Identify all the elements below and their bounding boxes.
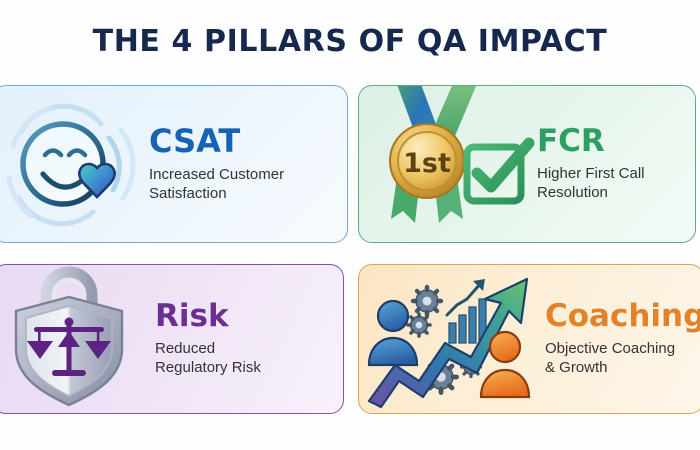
coaching-subtitle: Objective Coaching & Growth — [545, 339, 700, 377]
medal-label: 1st — [403, 148, 451, 179]
pillar-card-risk[interactable]: Risk Reduced Regulatory Risk — [0, 264, 344, 414]
fcr-text-block: FCR Higher First Call Resolution — [531, 126, 695, 203]
risk-heading: Risk — [155, 301, 343, 333]
fcr-subtitle-line-2: Resolution — [537, 183, 695, 202]
shield-scales-lock-icon — [0, 264, 145, 414]
risk-text-block: Risk Reduced Regulatory Risk — [145, 301, 343, 378]
risk-subtitle: Reduced Regulatory Risk — [155, 339, 343, 377]
pillar-card-fcr[interactable]: 1st FCR Higher First Call Resolution — [358, 85, 696, 243]
risk-subtitle-line-1: Reduced — [155, 339, 343, 358]
pillar-card-csat[interactable]: CSAT Increased Customer Satisfaction — [0, 85, 348, 243]
fcr-subtitle-line-1: Higher First Call — [537, 164, 695, 183]
csat-heading: CSAT — [149, 125, 347, 158]
coaching-heading: Coaching — [545, 301, 700, 333]
csat-subtitle: Increased Customer Satisfaction — [149, 165, 347, 203]
people-growth-arrow-gears-icon — [359, 264, 541, 414]
first-place-medal-checkmark-icon: 1st — [359, 85, 531, 243]
csat-subtitle-line-2: Satisfaction — [149, 184, 347, 203]
page-title: THE 4 PILLARS OF QA IMPACT — [0, 24, 700, 59]
fcr-subtitle: Higher First Call Resolution — [537, 164, 695, 202]
risk-subtitle-line-2: Regulatory Risk — [155, 358, 343, 377]
infographic-canvas: THE 4 PILLARS OF QA IMPACT — [0, 0, 700, 450]
coaching-text-block: Coaching Objective Coaching & Growth — [541, 301, 700, 378]
fcr-heading: FCR — [537, 126, 695, 158]
csat-subtitle-line-1: Increased Customer — [149, 165, 347, 184]
pillar-card-coaching[interactable]: Coaching Objective Coaching & Growth — [358, 264, 700, 414]
smiley-heart-icon — [0, 89, 141, 239]
coaching-subtitle-line-1: Objective Coaching — [545, 339, 700, 358]
coaching-subtitle-line-2: & Growth — [545, 358, 700, 377]
csat-text-block: CSAT Increased Customer Satisfaction — [141, 125, 347, 203]
